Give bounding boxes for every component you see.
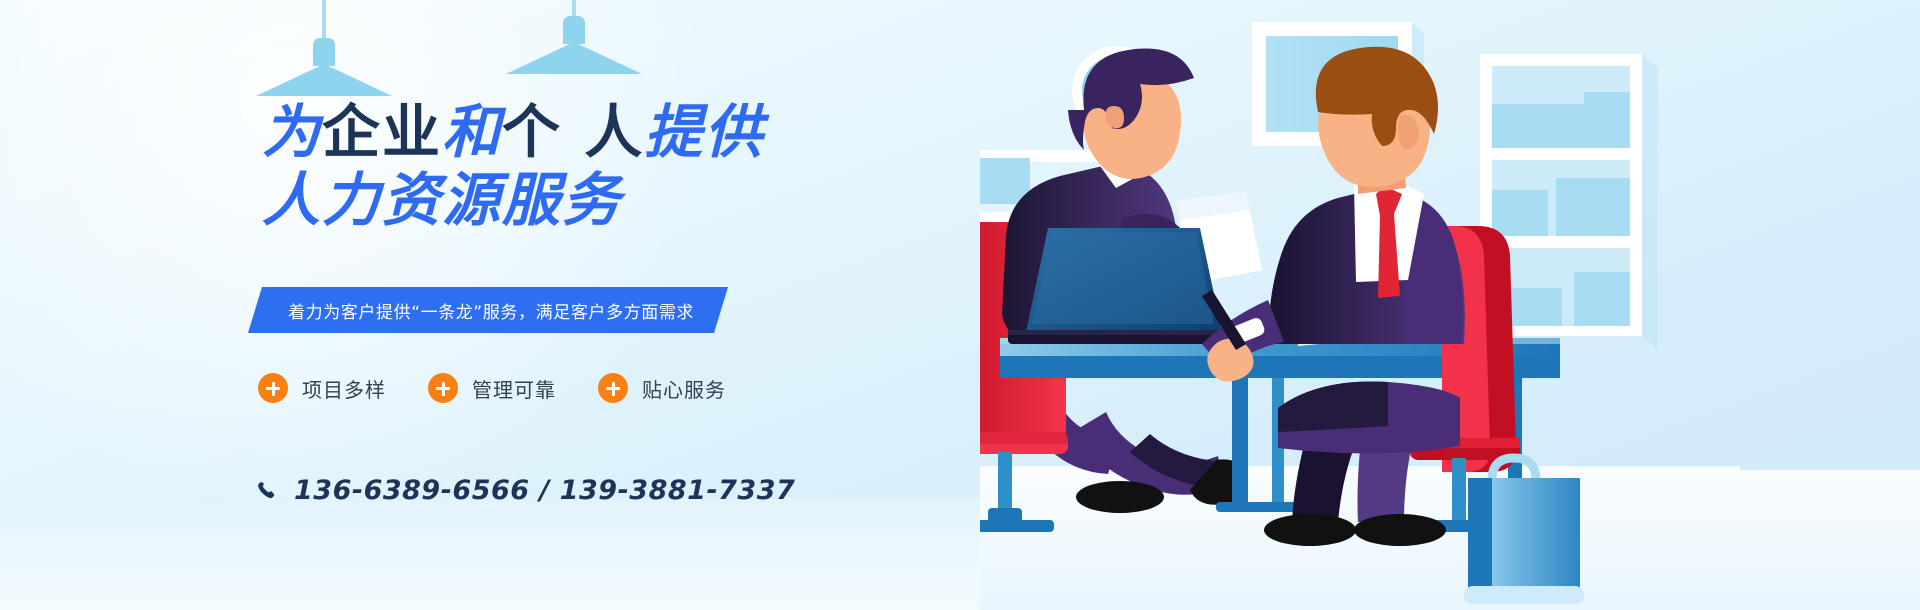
contact-row: 136-6389-6566 / 139-3881-7337 [256,475,795,506]
plus-icon [428,373,458,403]
plus-icon [258,373,288,403]
headline-seg-4: 个 人 [502,98,644,166]
headline-line-1: 为企业和个 人提供 [262,98,822,166]
office-meeting-illustration [980,0,1920,610]
feature-list: 项目多样 管理可靠 贴心服务 [258,373,726,403]
headline: 为企业和个 人提供 人力资源服务 [262,98,822,234]
headline-seg-3: 和 [442,98,502,166]
ribbon-body: 着力为客户提供“一条龙”服务，满足客户多方面需求 [248,287,728,333]
ribbon-text: 着力为客户提供“一条龙”服务，满足客户多方面需求 [288,298,694,323]
feature-label: 项目多样 [302,374,386,403]
headline-line-2: 人力资源服务 [262,166,822,234]
subtitle-ribbon: 着力为客户提供“一条龙”服务，满足客户多方面需求 [248,287,728,333]
feature-label: 贴心服务 [642,374,726,403]
headline-seg-5: 提供 [644,98,764,166]
briefcase [1464,458,1584,604]
feature-item: 管理可靠 [428,373,556,403]
phone-numbers: 136-6389-6566 / 139-3881-7337 [294,475,795,506]
feature-item: 项目多样 [258,373,386,403]
phone-icon [256,480,278,502]
headline-seg-2: 企业 [322,98,442,166]
feature-item: 贴心服务 [598,373,726,403]
feature-label: 管理可靠 [472,374,556,403]
hr-services-banner: 为企业和个 人提供 人力资源服务 着力为客户提供“一条龙”服务，满足客户多方面需… [0,0,1920,610]
plus-icon [598,373,628,403]
text-column: 为企业和个 人提供 人力资源服务 着力为客户提供“一条龙”服务，满足客户多方面需… [0,0,860,610]
headline-seg-1: 为 [262,98,322,166]
